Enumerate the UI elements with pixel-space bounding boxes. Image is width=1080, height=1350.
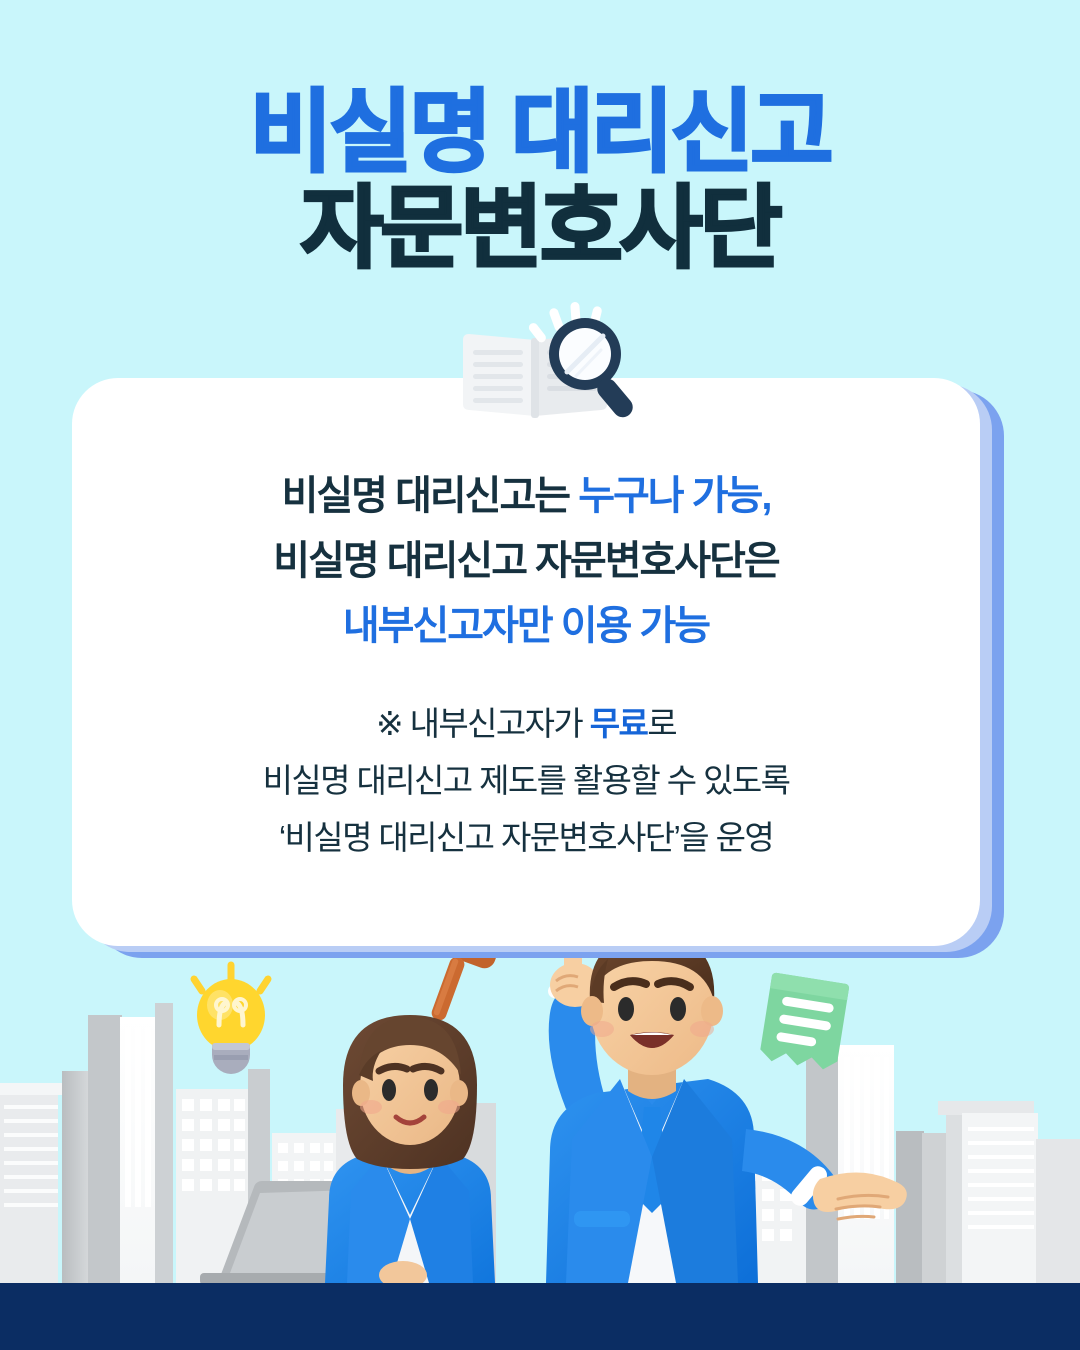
book-magnifier-icon [455, 292, 650, 422]
headline-line-1-plain: 비실명 대리신고는 [282, 474, 579, 518]
bottom-bar [0, 1283, 1080, 1350]
poster-root: 비실명 대리신고 자문변호사단 [0, 0, 1080, 1350]
subcopy-line-1: ※ 내부신고자가 무료로 [263, 696, 790, 753]
lightbulb-icon [176, 953, 286, 1083]
headline-line-1: 비실명 대리신고는 누구나 가능, [273, 464, 778, 529]
info-card: 비실명 대리신고는 누구나 가능, 비실명 대리신고 자문변호사단은 내부신고자… [72, 378, 980, 946]
card-headline: 비실명 대리신고는 누구나 가능, 비실명 대리신고 자문변호사단은 내부신고자… [273, 464, 778, 658]
card-surface: 비실명 대리신고는 누구나 가능, 비실명 대리신고 자문변호사단은 내부신고자… [72, 378, 980, 946]
card-subcopy: ※ 내부신고자가 무료로 비실명 대리신고 제도를 활용할 수 있도록 ‘비실명… [263, 696, 790, 866]
subcopy-line-1-prefix: ※ 내부신고자가 [376, 705, 590, 742]
character-group [0, 923, 1080, 1283]
male-lawyer-character [470, 923, 910, 1283]
subcopy-line-3: ‘비실명 대리신고 자문변호사단’을 운영 [263, 810, 790, 867]
subcopy-line-2: 비실명 대리신고 제도를 활용할 수 있도록 [263, 753, 790, 810]
subcopy-line-1-suffix: 로 [647, 705, 676, 742]
subcopy-free-highlight: 무료 [590, 705, 648, 742]
headline-line-3: 내부신고자만 이용 가능 [273, 594, 778, 659]
title-line-1: 비실명 대리신고 [0, 88, 1080, 180]
page-title: 비실명 대리신고 자문변호사단 [0, 88, 1080, 276]
title-line-2: 자문변호사단 [0, 184, 1080, 276]
headline-line-2: 비실명 대리신고 자문변호사단은 [273, 529, 778, 594]
illustration-scene [0, 930, 1080, 1350]
headline-line-1-accent: 누구나 가능, [578, 474, 770, 518]
